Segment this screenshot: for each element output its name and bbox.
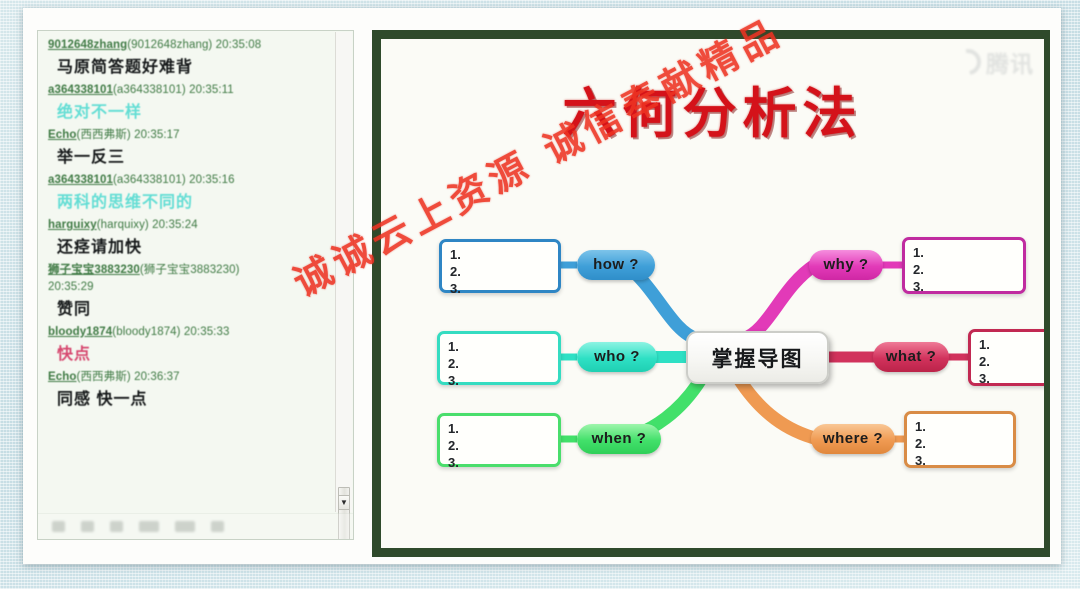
chat-message-header: 狮子宝宝3883230(狮子宝宝3883230) xyxy=(48,262,327,279)
chat-scrollbar[interactable]: ▼ xyxy=(335,32,352,512)
branch-how[interactable]: how ? xyxy=(577,250,655,280)
chat-message-header: a364338101(a364338101) 20:35:16 xyxy=(48,172,327,189)
what-detail-box[interactable]: 1.2.3. xyxy=(968,329,1044,386)
chat-message-text: 两科的思维不同的 xyxy=(48,189,327,216)
scroll-down-arrow-icon[interactable]: ▼ xyxy=(338,495,350,510)
chat-message: Echo(西西弗斯) 20:36:37同感 快一点 xyxy=(48,369,327,413)
branch-why-label: why ? xyxy=(823,256,868,273)
when-list-items: 1.2.3. xyxy=(448,420,459,471)
chat-nickname[interactable]: harguixy xyxy=(48,219,97,231)
chat-nickname[interactable]: 狮子宝宝3883230 xyxy=(48,264,140,276)
chat-message: bloody1874(bloody1874) 20:35:33快点 xyxy=(48,324,327,368)
chat-timestamp: 20:35:29 xyxy=(48,279,327,296)
where-detail-box[interactable]: 1.2.3. xyxy=(904,411,1016,468)
branch-when[interactable]: when ? xyxy=(577,424,661,454)
chat-message-header: bloody1874(bloody1874) 20:35:33 xyxy=(48,324,327,341)
chat-message-header: Echo(西西弗斯) 20:35:17 xyxy=(48,127,327,144)
chat-account-time: (harquixy) 20:35:24 xyxy=(97,219,198,231)
chat-message-text: 举一反三 xyxy=(48,144,327,171)
chat-message-header: Echo(西西弗斯) 20:36:37 xyxy=(48,369,327,386)
branch-what[interactable]: what ? xyxy=(873,342,949,372)
branch-when-label: when ? xyxy=(592,430,647,447)
branch-how-label: how ? xyxy=(593,256,639,273)
chat-message: a364338101(a364338101) 20:35:11绝对不一样 xyxy=(48,82,327,126)
chat-message-header: 9012648zhang(9012648zhang) 20:35:08 xyxy=(48,37,327,54)
chat-account-time: (狮子宝宝3883230) xyxy=(140,264,240,276)
branch-where-label: where ? xyxy=(823,430,883,447)
image-icon[interactable] xyxy=(110,521,123,532)
chat-message: harguixy(harquixy) 20:35:24还痉请加快 xyxy=(48,217,327,261)
font-icon[interactable] xyxy=(81,521,94,532)
chat-message-text: 还痉请加快 xyxy=(48,234,327,261)
how-list-items: 1.2.3. xyxy=(450,246,461,297)
chat-nickname[interactable]: 9012648zhang xyxy=(48,39,127,51)
chat-message: a364338101(a364338101) 20:35:16两科的思维不同的 xyxy=(48,172,327,216)
chat-nickname[interactable]: bloody1874 xyxy=(48,326,112,338)
chat-toolbar[interactable] xyxy=(38,513,353,539)
emoji-icon[interactable] xyxy=(52,521,65,532)
chat-panel: 9012648zhang(9012648zhang) 20:35:08马原简答题… xyxy=(37,30,354,540)
chat-account-time: (a364338101) 20:35:11 xyxy=(113,84,234,96)
screenshot-root: 9012648zhang(9012648zhang) 20:35:08马原简答题… xyxy=(0,0,1080,589)
chat-nickname[interactable]: a364338101 xyxy=(48,174,113,186)
chat-message-header: a364338101(a364338101) 20:35:11 xyxy=(48,82,327,99)
chat-message-text: 绝对不一样 xyxy=(48,99,327,126)
chat-message-header: harguixy(harquixy) 20:35:24 xyxy=(48,217,327,234)
chat-message-text: 快点 xyxy=(48,341,327,368)
mindmap-frame: 六何分析法 腾讯 xyxy=(372,30,1050,557)
when-detail-box[interactable]: 1.2.3. xyxy=(437,413,561,467)
chat-message-text: 马原简答题好难背 xyxy=(48,54,327,81)
what-list-items: 1.2.3. xyxy=(979,336,990,387)
file-icon[interactable] xyxy=(175,521,195,532)
why-detail-box[interactable]: 1.2.3. xyxy=(902,237,1026,294)
chat-account-time: (9012648zhang) 20:35:08 xyxy=(127,39,261,51)
branch-what-label: what ? xyxy=(886,348,937,365)
chat-message-text: 同感 快一点 xyxy=(48,386,327,413)
branch-where[interactable]: where ? xyxy=(811,424,895,454)
chat-message: Echo(西西弗斯) 20:35:17举一反三 xyxy=(48,127,327,171)
chat-nickname[interactable]: Echo xyxy=(48,371,77,383)
chat-message-list: 9012648zhang(9012648zhang) 20:35:08马原简答题… xyxy=(38,31,335,513)
chat-nickname[interactable]: Echo xyxy=(48,129,77,141)
chat-message: 狮子宝宝3883230(狮子宝宝3883230)20:35:29赞同 xyxy=(48,262,327,323)
who-list-items: 1.2.3. xyxy=(448,338,459,389)
chat-message-text: 赞同 xyxy=(48,296,327,323)
where-list-items: 1.2.3. xyxy=(915,418,926,469)
branch-why[interactable]: why ? xyxy=(809,250,883,280)
chat-message: 9012648zhang(9012648zhang) 20:35:08马原简答题… xyxy=(48,37,327,81)
branch-who-label: who ? xyxy=(594,348,640,365)
who-detail-box[interactable]: 1.2.3. xyxy=(437,331,561,385)
content-card: 9012648zhang(9012648zhang) 20:35:08马原简答题… xyxy=(23,8,1061,564)
how-detail-box[interactable]: 1.2.3. xyxy=(439,239,561,293)
chat-account-time: (西西弗斯) 20:35:17 xyxy=(77,129,180,141)
chat-account-time: (西西弗斯) 20:36:37 xyxy=(77,371,180,383)
history-icon[interactable] xyxy=(211,521,224,532)
screenshot-icon[interactable] xyxy=(139,521,159,532)
chat-account-time: (a364338101) 20:35:16 xyxy=(113,174,235,186)
mindmap-center-node[interactable]: 掌握导图 xyxy=(686,331,829,384)
chat-nickname[interactable]: a364338101 xyxy=(48,84,113,96)
mindmap-canvas: 六何分析法 腾讯 xyxy=(381,39,1044,548)
why-list-items: 1.2.3. xyxy=(913,244,924,295)
branch-who[interactable]: who ? xyxy=(577,342,657,372)
chat-account-time: (bloody1874) 20:35:33 xyxy=(112,326,229,338)
